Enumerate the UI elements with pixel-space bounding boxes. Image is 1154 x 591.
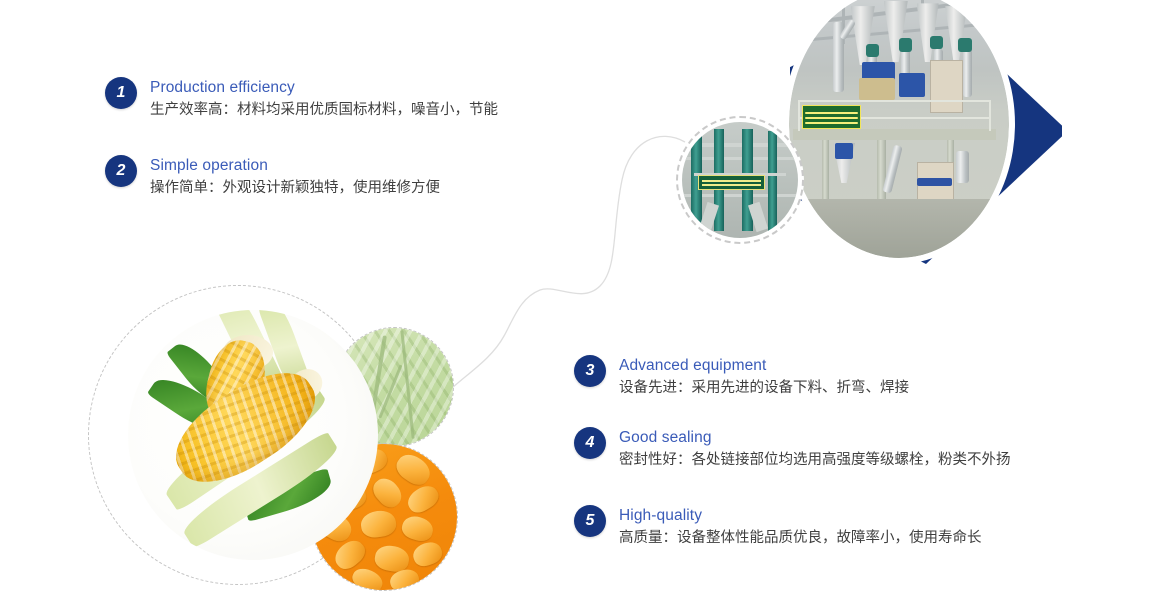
feature-infographic: 1 Production efficiency 生产效率高：材料均采用优质国标材… (0, 0, 1154, 591)
feature-item-2[interactable]: 2 Simple operation 操作简单：外观设计新颖独特，使用维修方便 (105, 155, 440, 199)
feature-desc-4: 密封性好：各处链接部位均选用高强度等级螺栓，粉类不外扬 (619, 449, 1011, 471)
feature-title-1: Production efficiency (150, 78, 498, 98)
feature-desc-2: 操作简单：外观设计新颖独特，使用维修方便 (150, 177, 440, 199)
corn-cob-photo (128, 310, 378, 560)
feature-title-4: Good sealing (619, 428, 1011, 448)
feature-badge-2: 2 (105, 155, 137, 187)
feature-text-1: Production efficiency 生产效率高：材料均采用优质国标材料，… (150, 77, 498, 121)
feature-text-4: Good sealing 密封性好：各处链接部位均选用高强度等级螺栓，粉类不外扬 (619, 427, 1011, 471)
main-plant-photo-inner (789, 0, 1009, 258)
feature-item-3[interactable]: 3 Advanced equipment 设备先进：采用先进的设备下料、折弯、焊… (574, 355, 909, 399)
small-plant-photo-inner (682, 122, 798, 238)
feature-desc-1: 生产效率高：材料均采用优质国标材料，噪音小，节能 (150, 99, 498, 121)
corn-cob-illustration (128, 310, 378, 560)
feature-badge-5: 5 (574, 505, 606, 537)
feature-title-2: Simple operation (150, 156, 440, 176)
small-plant-banner (698, 175, 765, 190)
feature-item-4[interactable]: 4 Good sealing 密封性好：各处链接部位均选用高强度等级螺栓，粉类不… (574, 427, 1011, 471)
feature-badge-4: 4 (574, 427, 606, 459)
feature-text-5: High-quality 高质量：设备整体性能品质优良，故障率小，使用寿命长 (619, 505, 982, 549)
feature-text-3: Advanced equipment 设备先进：采用先进的设备下料、折弯、焊接 (619, 355, 909, 399)
feature-text-2: Simple operation 操作简单：外观设计新颖独特，使用维修方便 (150, 155, 440, 199)
feature-item-1[interactable]: 1 Production efficiency 生产效率高：材料均采用优质国标材… (105, 77, 498, 121)
feature-title-3: Advanced equipment (619, 356, 909, 376)
feature-desc-3: 设备先进：采用先进的设备下料、折弯、焊接 (619, 377, 909, 399)
feature-title-5: High-quality (619, 506, 982, 526)
feature-desc-5: 高质量：设备整体性能品质优良，故障率小，使用寿命长 (619, 527, 982, 549)
mill-plant-illustration (789, 0, 1009, 258)
feature-item-5[interactable]: 5 High-quality 高质量：设备整体性能品质优良，故障率小，使用寿命长 (574, 505, 982, 549)
small-plant-photo (676, 116, 804, 244)
main-plant-photo (783, 0, 1015, 264)
feature-badge-1: 1 (105, 77, 137, 109)
feature-badge-3: 3 (574, 355, 606, 387)
plant-banner (802, 105, 861, 128)
green-mill-illustration (682, 122, 798, 238)
